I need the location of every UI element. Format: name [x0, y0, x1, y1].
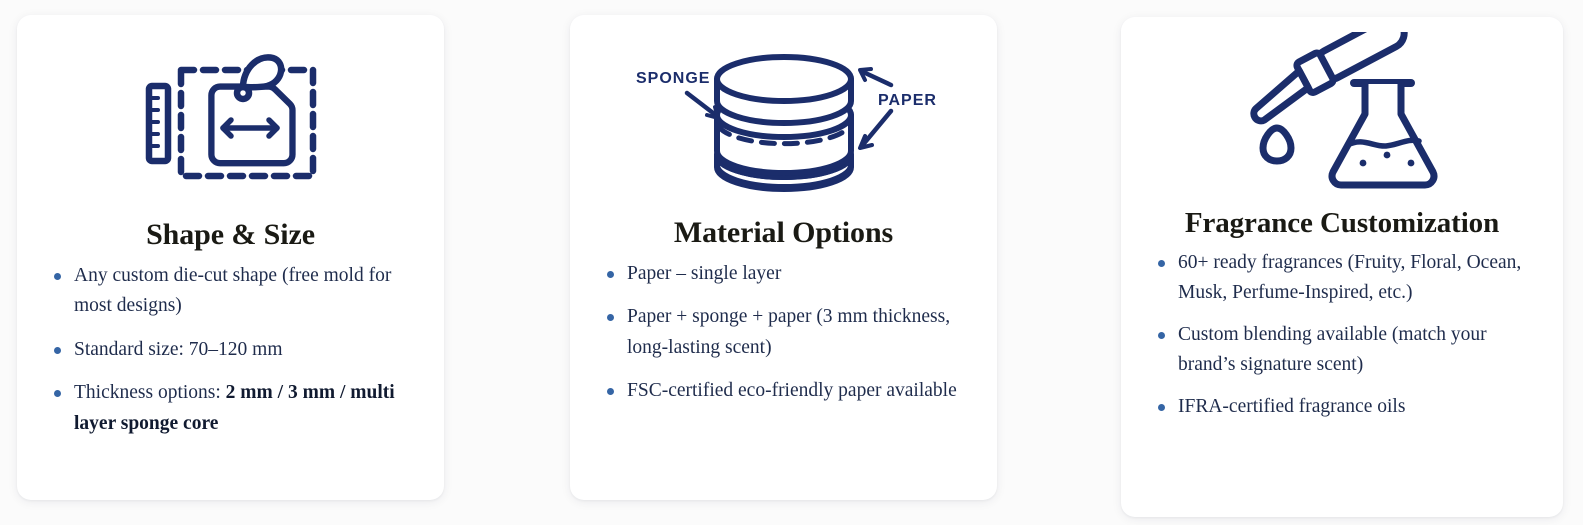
- icon-label-paper: PAPER: [878, 92, 937, 109]
- list-item: Standard size: 70–120 mm: [43, 335, 420, 365]
- list-item: FSC-certified eco-friendly paper availab…: [596, 376, 973, 406]
- bullet-text: Standard size: 70–120 mm: [74, 339, 283, 360]
- feature-card-shape-and-size[interactable]: Shape & Size Any custom die-cut shape (f…: [17, 15, 444, 500]
- list-item: Thickness options: 2 mm / 3 mm / multi l…: [43, 378, 420, 439]
- card-title: Fragrance Customization: [1121, 202, 1563, 242]
- bullet-text: FSC-certified eco-friendly paper availab…: [627, 380, 957, 401]
- bullet-text: Custom blending available (match your br…: [1178, 324, 1487, 375]
- list-item: Paper – single layer: [596, 259, 973, 289]
- list-item: IFRA-certified fragrance oils: [1147, 392, 1545, 422]
- icon-label-sponge: SPONGE: [636, 70, 710, 87]
- bullet-text: Paper + sponge + paper (3 mm thickness, …: [627, 306, 950, 357]
- feature-bullet-list: 60+ ready fragrances (Fruity, Floral, Oc…: [1121, 242, 1563, 422]
- bullet-text: 60+ ready fragrances (Fruity, Floral, Oc…: [1178, 252, 1521, 303]
- list-item: 60+ ready fragrances (Fruity, Floral, Oc…: [1147, 248, 1545, 309]
- bullet-text: IFRA-certified fragrance oils: [1178, 396, 1405, 417]
- dropper-flask-icon: [1121, 17, 1563, 202]
- list-item: Any custom die-cut shape (free mold for …: [43, 261, 420, 322]
- list-item: Custom blending available (match your br…: [1147, 320, 1545, 381]
- feature-card-material-options[interactable]: SPONGE PAPER Material Options Paper – si…: [570, 15, 997, 500]
- feature-bullet-list: Any custom die-cut shape (free mold for …: [17, 255, 444, 439]
- list-item: Paper + sponge + paper (3 mm thickness, …: [596, 302, 973, 363]
- tag-ruler-diecut-icon: [17, 15, 444, 208]
- card-title: Shape & Size: [17, 208, 444, 255]
- feature-card-fragrance-customization[interactable]: Fragrance Customization 60+ ready fragra…: [1121, 17, 1563, 517]
- card-title: Material Options: [570, 206, 997, 253]
- bullet-text: Paper – single layer: [627, 263, 781, 284]
- bullet-text: Thickness options:: [74, 382, 226, 403]
- bullet-text: Any custom die-cut shape (free mold for …: [74, 265, 391, 316]
- feature-card-grid: Shape & Size Any custom die-cut shape (f…: [0, 0, 1583, 525]
- feature-bullet-list: Paper – single layer Paper + sponge + pa…: [570, 253, 997, 407]
- sponge-paper-stack-icon: SPONGE PAPER: [570, 15, 997, 206]
